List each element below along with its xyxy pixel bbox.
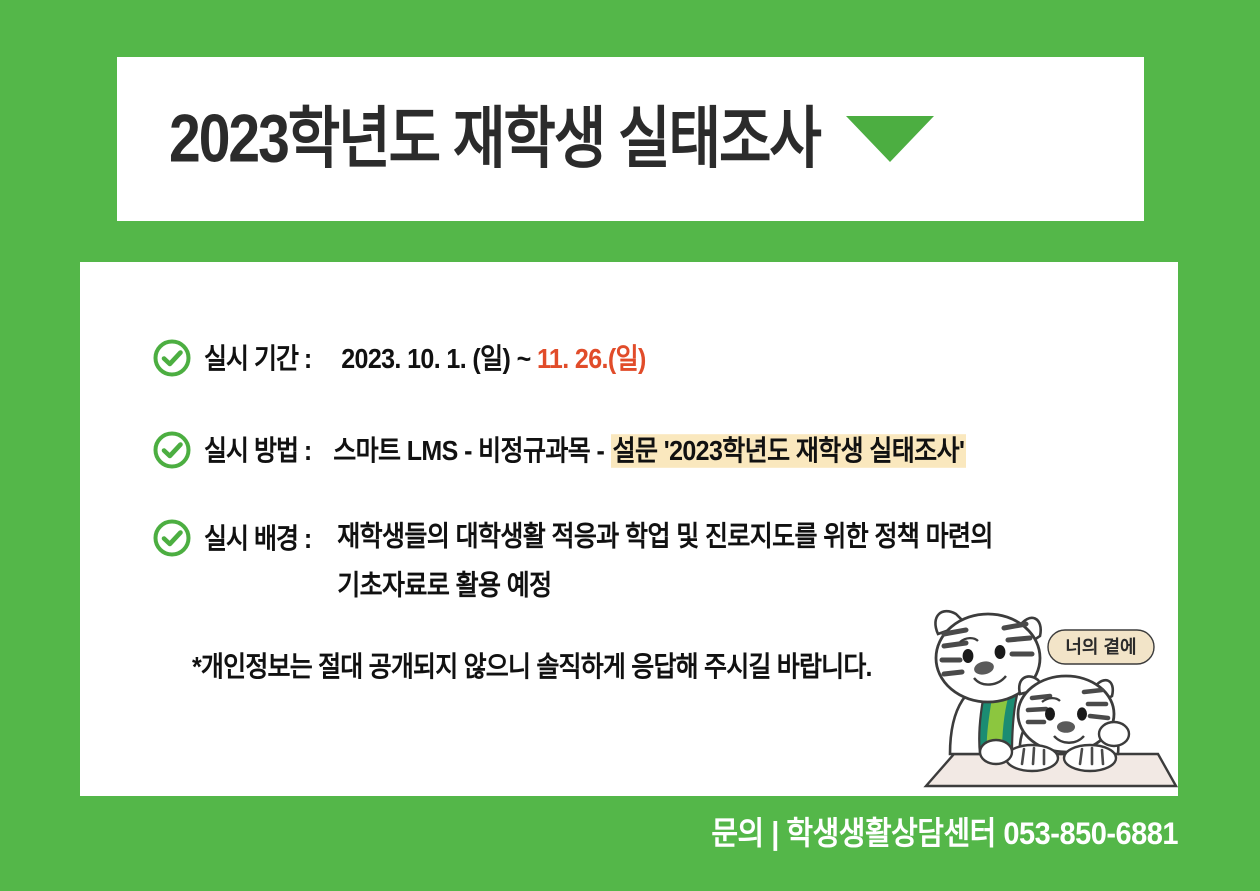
purpose-line-1: 재학생들의 대학생활 적응과 학업 및 진로지도를 위한 정책 마련의 <box>337 515 993 558</box>
page-title: 2023학년도 재학생 실태조사 <box>169 105 820 172</box>
method-path-text: 스마트 LMS - 비정규과목 - <box>333 435 610 466</box>
period-end-text: 11. 26.(일) <box>537 343 646 374</box>
info-row-period-label: 실시 기간 : <box>204 338 311 381</box>
main-content-card: 실시 기간 : 2023. 10. 1. (일) ~ 11. 26.(일) 실시… <box>80 262 1178 796</box>
info-row-method: 실시 방법 : 스마트 LMS - 비정규과목 - 설문 '2023학년도 재학… <box>152 432 966 470</box>
method-survey-name-highlight: 설문 '2023학년도 재학생 실태조사' <box>611 434 967 468</box>
big-tiger-eye-left <box>963 649 974 663</box>
info-row-period-value: 2023. 10. 1. (일) ~ 11. 26.(일) <box>341 338 645 381</box>
purpose-line-2: 기초자료로 활용 예정 <box>337 564 993 607</box>
footer-contact-info: 문의 | 학생생활상담센터 053-850-6881 <box>0 808 1178 854</box>
info-row-period: 실시 기간 : 2023. 10. 1. (일) ~ 11. 26.(일) <box>152 340 646 378</box>
big-tiger-eye-right <box>995 645 1006 659</box>
info-row-purpose-value: 재학생들의 대학생활 적응과 학업 및 진로지도를 위한 정책 마련의 기초자료… <box>337 515 993 607</box>
small-tiger-head <box>1018 676 1114 752</box>
privacy-footnote: *개인정보는 절대 공개되지 않으니 솔직하게 응답해 주시길 바랍니다. <box>192 645 872 685</box>
check-circle-icon <box>152 430 192 470</box>
small-tiger-eye-left <box>1045 707 1055 720</box>
triangle-down-icon <box>846 116 934 162</box>
speech-bubble-text: 너의 곁에 <box>1065 637 1136 657</box>
period-start-text: 2023. 10. 1. (일) ~ <box>341 343 537 374</box>
tiger-mascot-illustration: 너의 곁에 <box>908 586 1178 796</box>
info-row-purpose: 실시 배경 : 재학생들의 대학생활 적응과 학업 및 진로지도를 위한 정책 … <box>152 520 993 602</box>
check-circle-icon <box>152 518 192 558</box>
info-row-method-value: 스마트 LMS - 비정규과목 - 설문 '2023학년도 재학생 실태조사' <box>333 430 966 473</box>
check-circle-icon <box>152 338 192 378</box>
info-row-method-label: 실시 방법 : <box>204 430 311 473</box>
info-row-purpose-label: 실시 배경 : <box>204 518 311 561</box>
small-tiger-eye-right <box>1077 707 1087 720</box>
poster-title-bar: 2023학년도 재학생 실태조사 <box>117 57 1144 221</box>
small-tiger-nose <box>1057 721 1075 733</box>
